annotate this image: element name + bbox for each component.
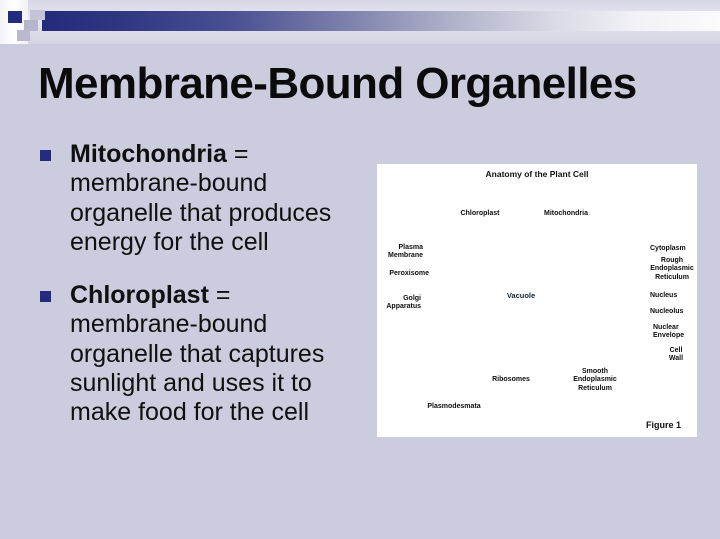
figure-label-ribosomes: Ribosomes — [481, 376, 541, 384]
header-gray-square-icon-3 — [17, 30, 30, 41]
figure-label-peroxisome: Peroxisome — [377, 270, 429, 278]
figure-label-nuclear-envelope: Nuclear Envelope — [653, 324, 697, 341]
figure-label-smooth-er: Smooth Endoplasmic Reticulum — [563, 368, 627, 393]
figure-label-mitochondria: Mitochondria — [533, 210, 599, 218]
slide-header-band — [0, 0, 720, 44]
figure-label-nucleolus: Nucleolus — [650, 308, 698, 316]
header-gradient-bar — [42, 11, 720, 31]
header-gray-square-icon-1 — [30, 10, 45, 20]
list-item: Chloroplast = membrane-bound organelle t… — [34, 281, 364, 427]
figure-label-vacuole: Vacuole — [499, 292, 543, 301]
bullet-list: Mitochondria = membrane-bound organelle … — [34, 140, 364, 451]
figure-label-golgi-apparatus: Golgi Apparatus — [377, 295, 421, 312]
figure-label-cytoplasm: Cytoplasm — [650, 245, 698, 253]
bullet-term: Chloroplast — [70, 281, 209, 309]
bullet-term: Mitochondria — [70, 140, 227, 168]
square-bullet-icon — [40, 291, 51, 302]
figure-title: Anatomy of the Plant Cell — [377, 169, 697, 179]
header-navy-square-icon — [8, 11, 22, 23]
presentation-slide: Membrane-Bound Organelles Mitochondria =… — [0, 0, 720, 539]
figure-label-plasmodesmata: Plasmodesmata — [415, 403, 493, 411]
figure-label-rough-er: Rough Endoplasmic Reticulum — [645, 257, 699, 282]
list-item: Mitochondria = membrane-bound organelle … — [34, 140, 364, 257]
figure-label-chloroplast: Chloroplast — [449, 210, 511, 218]
figure-label-plasma-membrane: Plasma Membrane — [377, 244, 423, 261]
figure-label-cell-wall: Cell Wall — [659, 347, 693, 364]
figure-caption: Figure 1 — [646, 420, 681, 430]
slide-title: Membrane-Bound Organelles — [38, 62, 688, 106]
square-bullet-icon — [40, 150, 51, 161]
figure-label-nucleus: Nucleus — [650, 292, 696, 300]
plant-cell-figure: Anatomy of the Plant Cell #cbdd8b offset… — [377, 164, 697, 437]
